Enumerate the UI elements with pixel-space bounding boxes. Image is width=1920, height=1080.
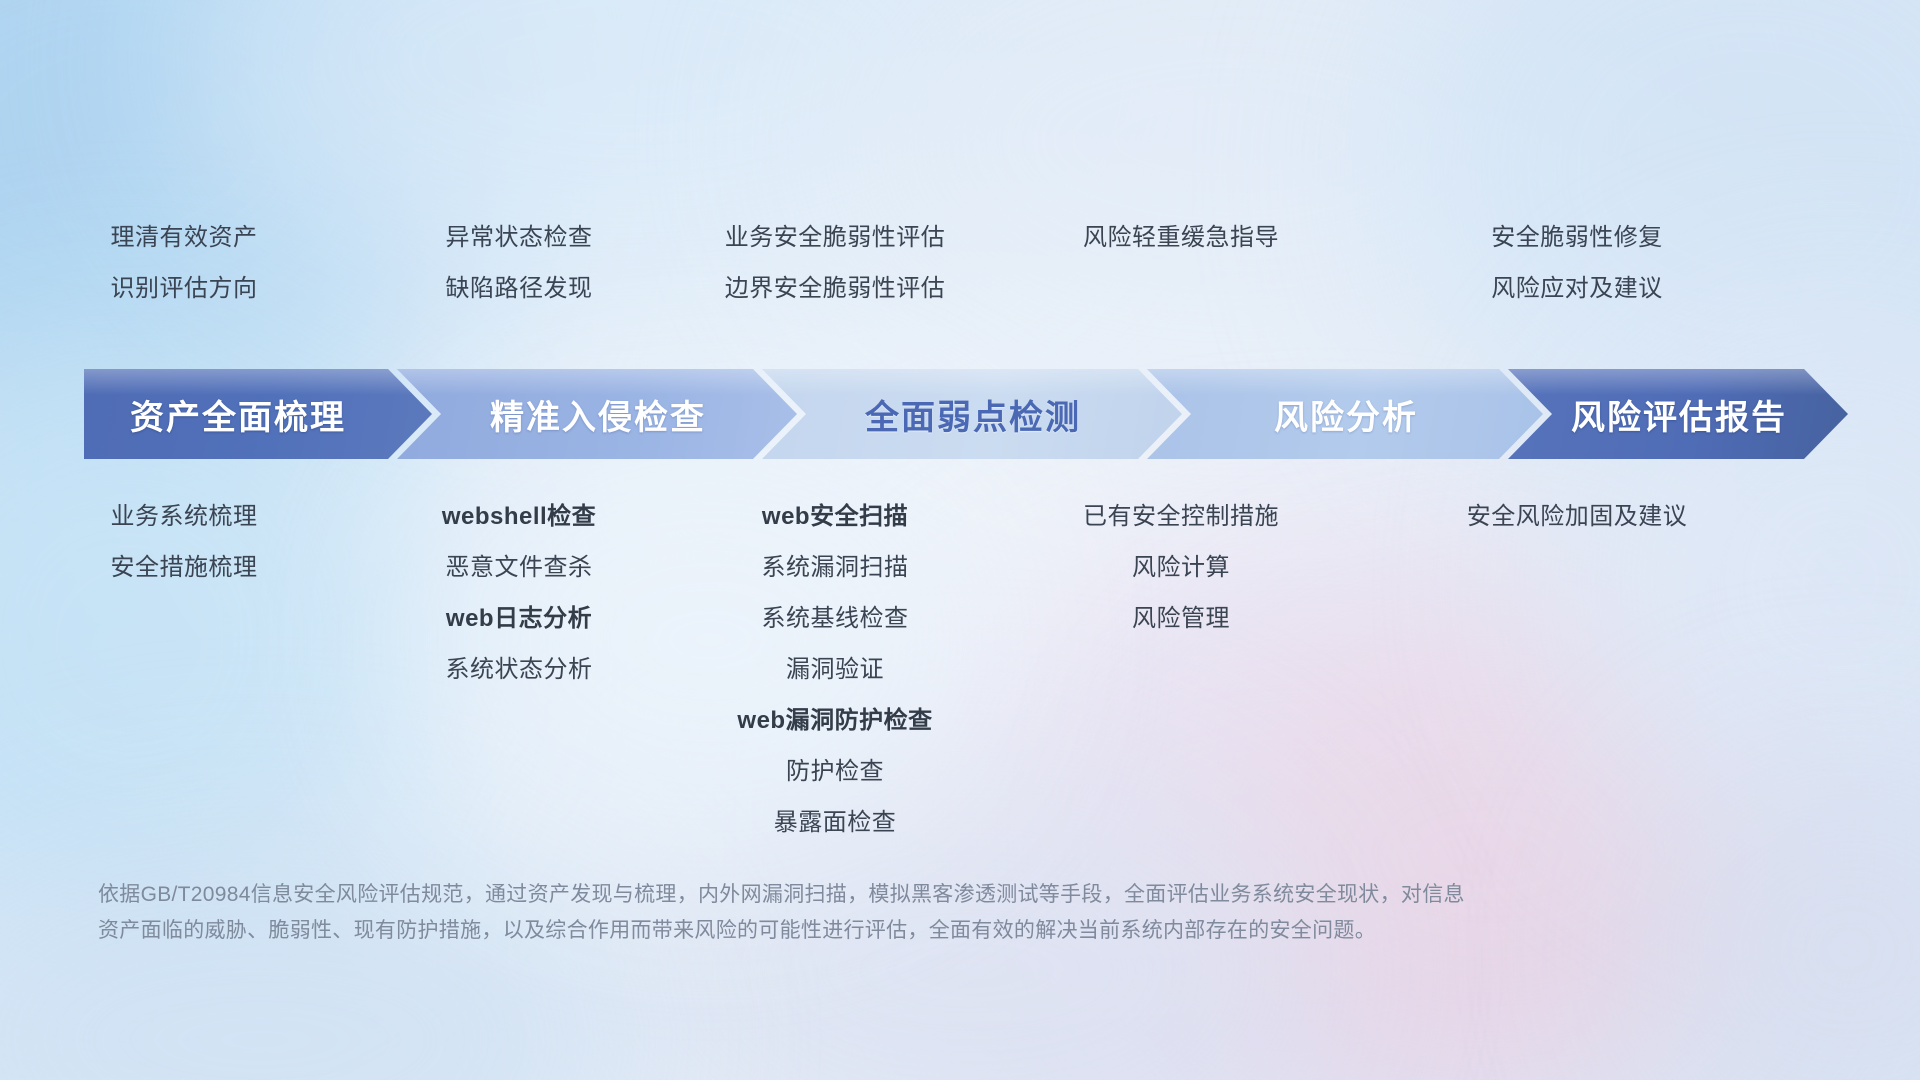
footer-line-2: 资产面临的威胁、脆弱性、现有防护措施，以及综合作用而带来风险的可能性进行评估，全… <box>98 913 1628 949</box>
stage-arrow-label: 全面弱点检测 <box>865 390 1081 439</box>
stage-bottom-items-row: 业务系统梳理 安全措施梳理 webshell检查 恶意文件查杀 web日志分析 … <box>0 505 1920 835</box>
stage-bottom-items-weakness-detection: web安全扫描 系统漏洞扫描 系统基线检查 漏洞验证 web漏洞防护检查 防护检… <box>670 505 1000 835</box>
stage-top-items-assessment-report: 安全脆弱性修复 风险应对及建议 <box>1362 226 1792 301</box>
stage-arrow-weakness-detection[interactable]: 全面弱点检测 <box>762 369 1182 459</box>
stage-bottom-items-risk-analysis: 已有安全控制措施 风险计算 风险管理 <box>1000 505 1362 631</box>
stage-top-item: 理清有效资产 <box>111 226 258 250</box>
stage-top-items-weakness-detection: 业务安全脆弱性评估 边界安全脆弱性评估 <box>670 226 1000 301</box>
stage-top-items-risk-analysis: 风险轻重缓急指导 <box>1000 226 1362 301</box>
stage-bottom-item: 业务系统梳理 <box>111 505 258 529</box>
stage-bottom-item: 系统状态分析 <box>446 658 593 682</box>
stage-bottom-item: web漏洞防护检查 <box>737 709 932 733</box>
stage-arrow-band: 资产全面梳理 精准入侵检查 全面弱点检测 风险分析 风险评估报告 <box>84 369 1848 459</box>
stage-arrow-label: 风险分析 <box>1274 390 1418 439</box>
stage-top-items-intrusion-check: 异常状态检查 缺陷路径发现 <box>368 226 670 301</box>
stage-arrow-label: 资产全面梳理 <box>130 390 346 439</box>
stage-arrow-risk-analysis[interactable]: 风险分析 <box>1147 369 1543 459</box>
stage-bottom-items-assessment-report: 安全风险加固及建议 <box>1362 505 1792 529</box>
footer-description: 依据GB/T20984信息安全风险评估规范，通过资产发现与梳理，内外网漏洞扫描，… <box>98 877 1628 949</box>
stage-arrow-assessment-report[interactable]: 风险评估报告 <box>1508 369 1848 459</box>
stage-bottom-item: 系统基线检查 <box>762 607 909 631</box>
stage-top-items-asset-inventory: 理清有效资产 识别评估方向 <box>0 226 368 301</box>
stage-bottom-item: 已有安全控制措施 <box>1083 505 1279 529</box>
stage-top-item: 异常状态检查 <box>446 226 593 250</box>
stage-top-item: 边界安全脆弱性评估 <box>725 277 946 301</box>
stage-bottom-item: 风险管理 <box>1132 607 1230 631</box>
stage-arrow-label: 精准入侵检查 <box>490 390 706 439</box>
stage-bottom-item: 恶意文件查杀 <box>446 556 593 580</box>
stage-arrow-label: 风险评估报告 <box>1571 390 1787 439</box>
stage-bottom-item: 安全风险加固及建议 <box>1467 505 1688 529</box>
stage-bottom-item: 安全措施梳理 <box>111 556 258 580</box>
stage-bottom-item: 系统漏洞扫描 <box>762 556 909 580</box>
stage-top-item: 安全脆弱性修复 <box>1491 226 1663 250</box>
stage-top-item: 业务安全脆弱性评估 <box>725 226 946 250</box>
stage-top-item: 识别评估方向 <box>111 277 258 301</box>
stage-bottom-item: 暴露面检查 <box>774 811 897 835</box>
stage-top-items-row: 理清有效资产 识别评估方向 异常状态检查 缺陷路径发现 业务安全脆弱性评估 边界… <box>0 226 1920 301</box>
stage-top-item: 缺陷路径发现 <box>446 277 593 301</box>
process-flow-diagram: 理清有效资产 识别评估方向 异常状态检查 缺陷路径发现 业务安全脆弱性评估 边界… <box>0 0 1920 1080</box>
stage-bottom-item: 漏洞验证 <box>786 658 884 682</box>
stage-top-item: 风险应对及建议 <box>1491 277 1663 301</box>
stage-top-item: 风险轻重缓急指导 <box>1083 226 1279 250</box>
footer-line-1: 依据GB/T20984信息安全风险评估规范，通过资产发现与梳理，内外网漏洞扫描，… <box>98 883 1465 906</box>
stage-arrow-intrusion-check[interactable]: 精准入侵检查 <box>397 369 797 459</box>
stage-arrow-asset-inventory[interactable]: 资产全面梳理 <box>84 369 432 459</box>
stage-bottom-item: 风险计算 <box>1132 556 1230 580</box>
stage-bottom-item: web安全扫描 <box>762 505 908 529</box>
stage-bottom-item: 防护检查 <box>786 760 884 784</box>
stage-bottom-item: web日志分析 <box>446 607 592 631</box>
stage-bottom-items-intrusion-check: webshell检查 恶意文件查杀 web日志分析 系统状态分析 <box>368 505 670 682</box>
stage-bottom-items-asset-inventory: 业务系统梳理 安全措施梳理 <box>0 505 368 580</box>
stage-bottom-item: webshell检查 <box>442 505 596 529</box>
